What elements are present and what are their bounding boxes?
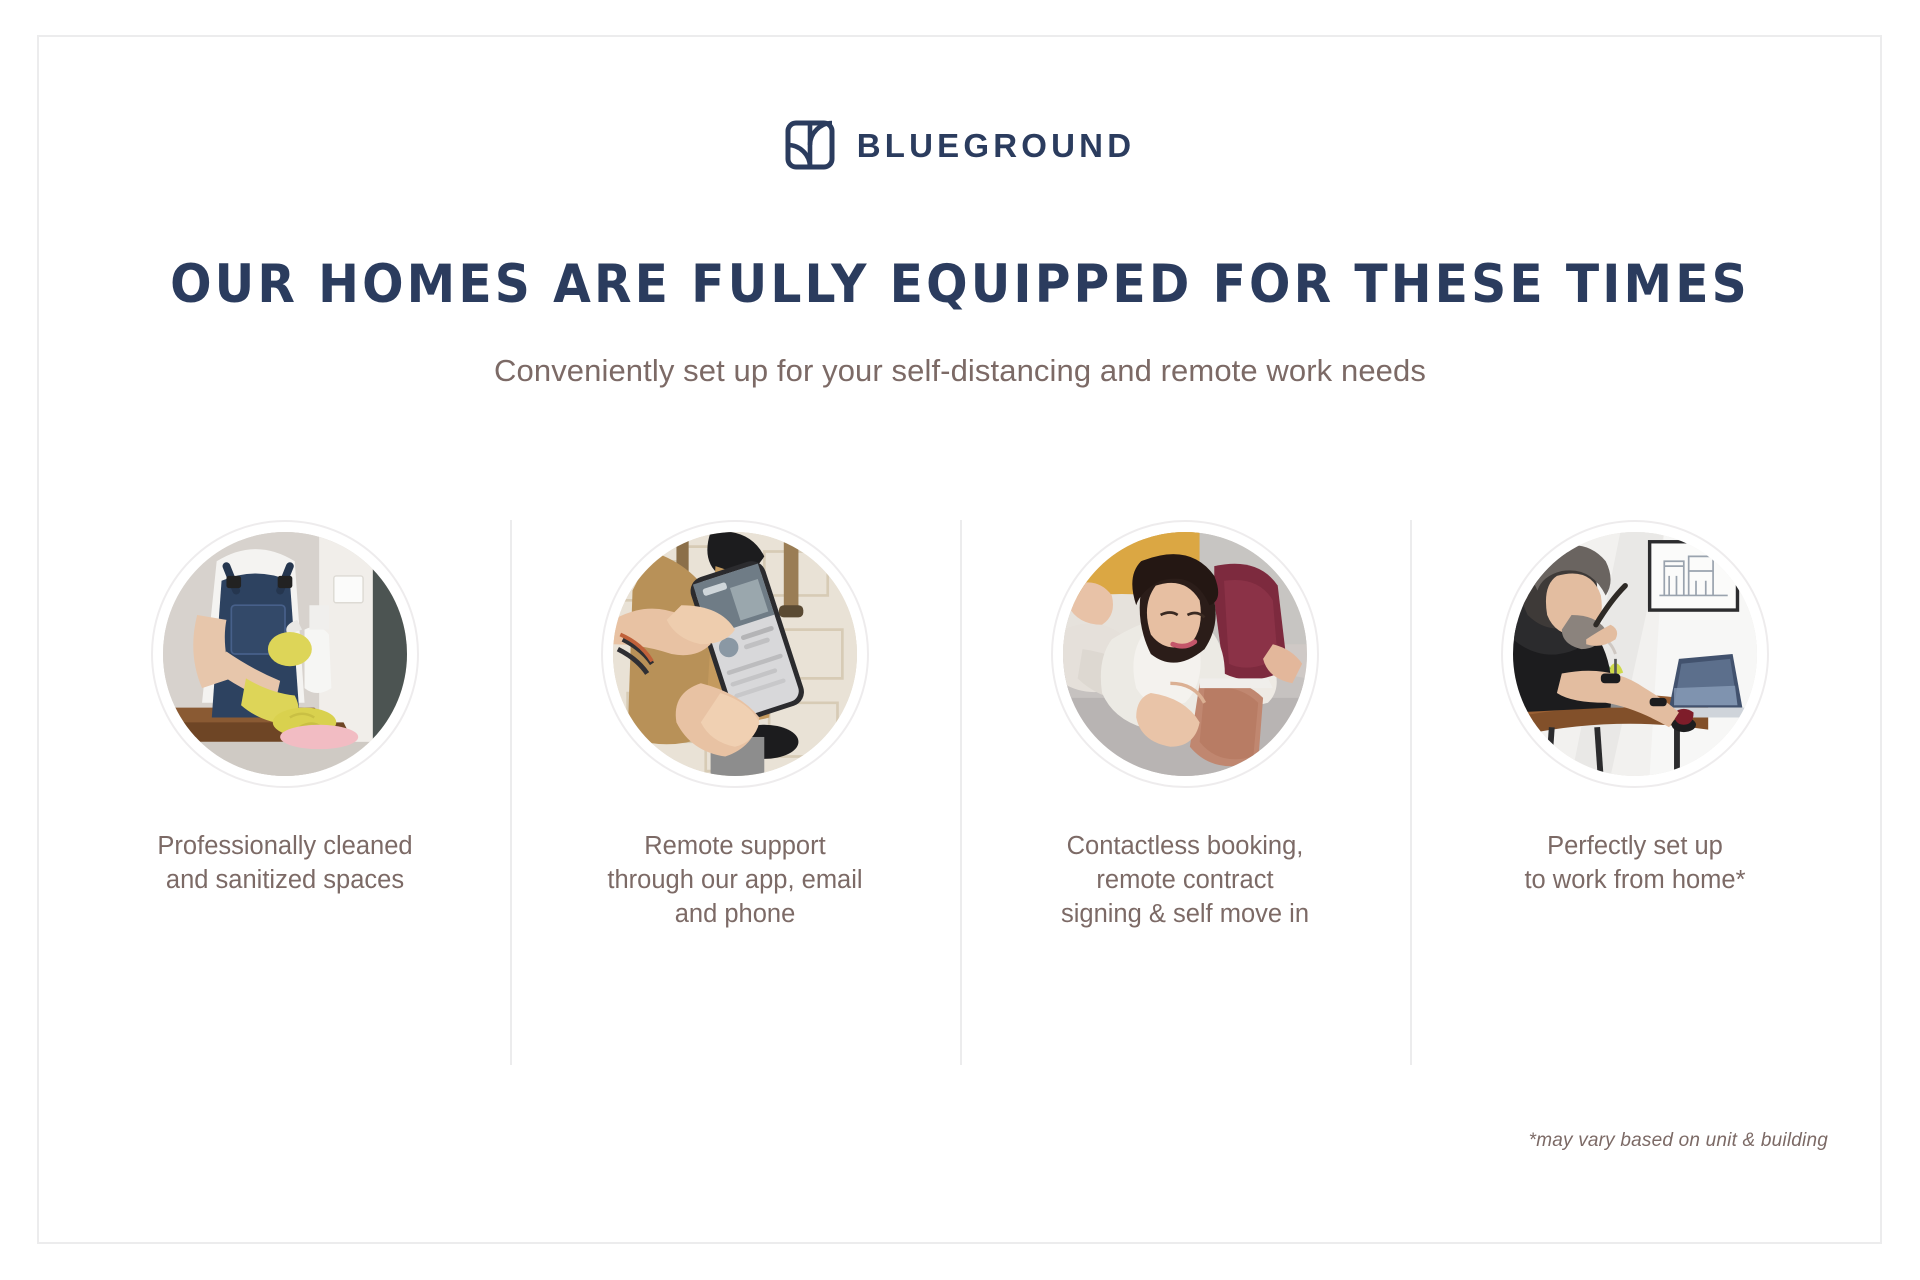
footnote: *may vary based on unit & building [1529,1130,1828,1152]
feature-columns: Professionally cleaned and sanitized spa… [60,520,1860,1065]
brand-lockup: BLUEGROUND [0,120,1920,170]
photo-professionally-cleaned [163,532,407,776]
photo-ring [601,520,869,788]
page-subtitle: Conveniently set up for your self-distan… [0,351,1920,391]
page-title: OUR HOMES ARE FULLY EQUIPPED FOR THESE T… [77,256,1843,313]
feature-column-work-from-home: Perfectly set up to work from home* [1410,520,1860,1065]
photo-work-from-home [1513,532,1757,776]
feature-caption: Perfectly set up to work from home* [1524,830,1745,898]
photo-ring [1051,520,1319,788]
photo-ring [151,520,419,788]
blueground-logo-icon [785,120,835,170]
feature-caption: Remote support through our app, email an… [607,830,862,932]
feature-column-remote-support: Remote support through our app, email an… [510,520,960,1065]
feature-caption: Professionally cleaned and sanitized spa… [157,830,412,898]
photo-remote-support [613,532,857,776]
feature-caption: Contactless booking, remote contract sig… [1061,830,1309,932]
feature-column-contactless-booking: Contactless booking, remote contract sig… [960,520,1410,1065]
feature-column-cleaning: Professionally cleaned and sanitized spa… [60,520,510,1065]
poster-canvas: BLUEGROUND OUR HOMES ARE FULLY EQUIPPED … [0,0,1920,1280]
brand-name: BLUEGROUND [857,129,1136,162]
photo-contactless-booking [1063,532,1307,776]
photo-ring [1501,520,1769,788]
